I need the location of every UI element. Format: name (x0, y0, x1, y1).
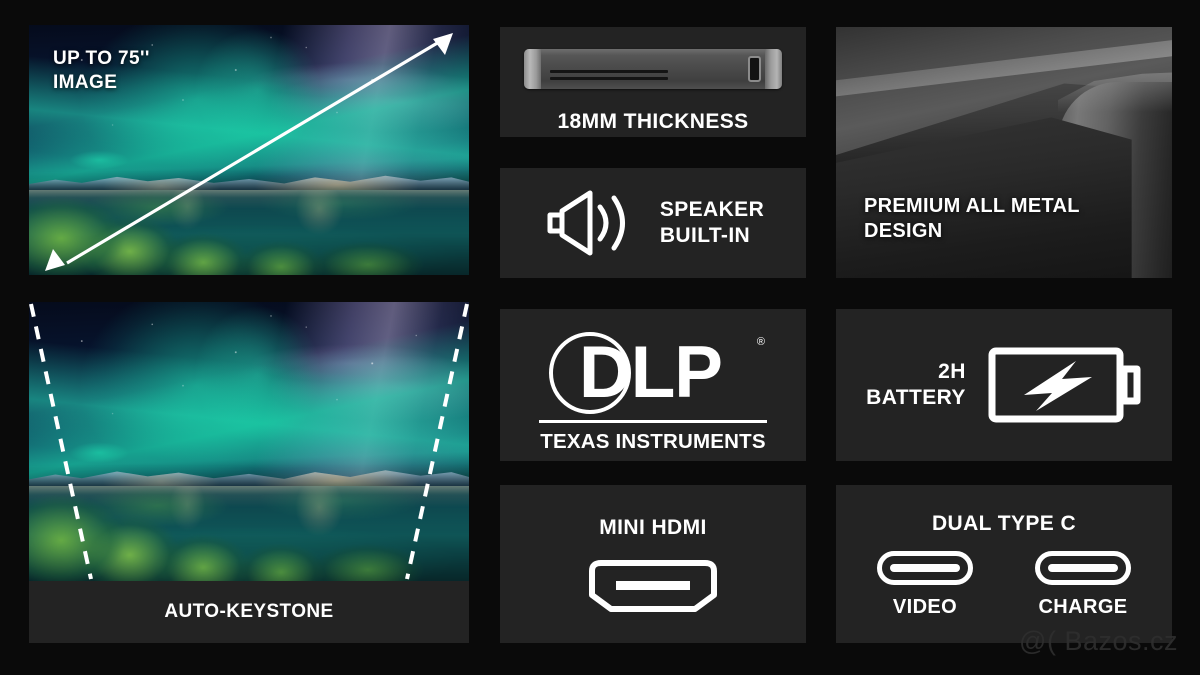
tile-thickness: 18MM THICKNESS (500, 27, 806, 137)
tile-premium-metal: PREMIUM ALL METAL DESIGN (836, 27, 1172, 278)
dlp-subtitle: TEXAS INSTRUMENTS (539, 430, 767, 454)
speaker-icon (542, 187, 634, 259)
tile-battery: 2H BATTERY (836, 309, 1172, 461)
dlp-logo: DLP ® (539, 326, 767, 418)
feature-grid-board: UP TO 75'' IMAGE AUTO-KEYSTONE 18MM THIC… (0, 0, 1200, 675)
dlp-registered-mark: ® (757, 336, 765, 348)
premium-metal-caption: PREMIUM ALL METAL DESIGN (864, 194, 1080, 244)
tile-dlp: DLP ® TEXAS INSTRUMENTS (500, 309, 806, 461)
tile-dual-type-c: DUAL TYPE C VIDEO CHARGE (836, 485, 1172, 643)
type-c-port-video: VIDEO (877, 551, 973, 619)
type-c-port-charge: CHARGE (1035, 551, 1131, 619)
usb-c-port-icon (877, 551, 973, 585)
mossy-rocks (29, 464, 469, 587)
hdmi-label: MINI HDMI (500, 515, 806, 541)
battery-label: 2H BATTERY (866, 359, 966, 412)
dlp-divider (539, 420, 767, 423)
type-c-charge-label: CHARGE (1035, 595, 1131, 619)
screen-size-caption: UP TO 75'' IMAGE (53, 47, 150, 96)
projector-side-profile-illustration (524, 49, 782, 89)
speaker-label: SPEAKER BUILT-IN (660, 197, 764, 250)
aurora-image-keystone (29, 302, 469, 581)
keystone-label: AUTO-KEYSTONE (164, 600, 333, 623)
usb-c-port-icon (1035, 551, 1131, 585)
tile-hdmi: MINI HDMI (500, 485, 806, 643)
type-c-video-label: VIDEO (877, 595, 973, 619)
device-port (748, 56, 761, 82)
keystone-label-bar: AUTO-KEYSTONE (29, 581, 469, 643)
device-grille (550, 70, 668, 73)
tile-auto-keystone: AUTO-KEYSTONE (29, 302, 469, 643)
tile-speaker: SPEAKER BUILT-IN (500, 168, 806, 278)
mossy-rocks (29, 170, 469, 275)
hdmi-port-icon (582, 557, 724, 627)
device-right-cap (765, 49, 782, 89)
device-left-cap (524, 49, 541, 89)
tile-screen-size: UP TO 75'' IMAGE (29, 25, 469, 275)
site-watermark: @( Bazos.cz (1019, 626, 1178, 657)
battery-charging-icon (988, 341, 1142, 429)
dlp-letters: DLP (579, 333, 722, 413)
type-c-title: DUAL TYPE C (836, 511, 1172, 537)
thickness-label: 18MM THICKNESS (500, 109, 806, 135)
